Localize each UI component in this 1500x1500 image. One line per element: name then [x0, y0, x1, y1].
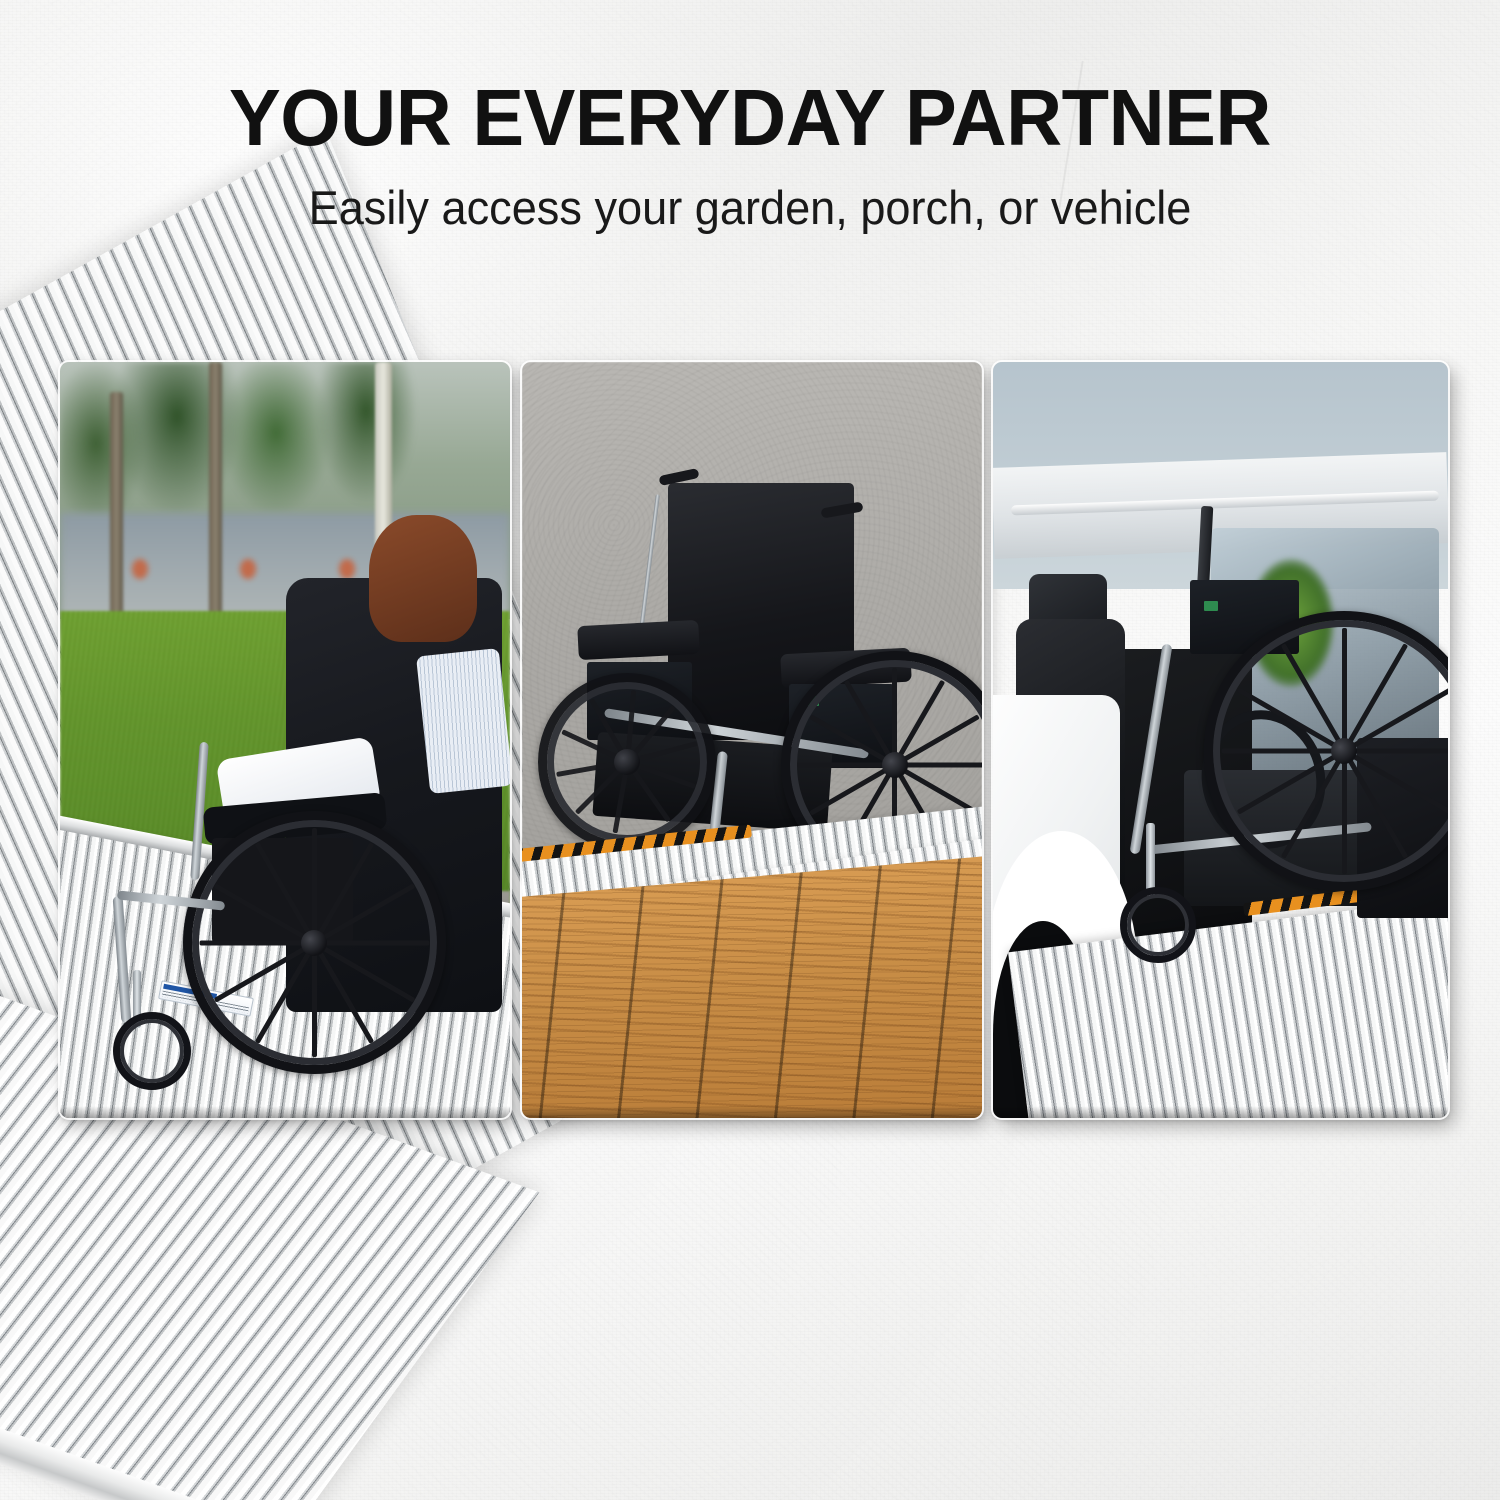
seated-person-hair [369, 515, 477, 642]
wheel-hub [882, 752, 908, 778]
seated-person-shirt [416, 648, 510, 793]
wheelchair-front-caster [113, 1012, 191, 1090]
panel-bottom-shadow [993, 1106, 1448, 1118]
caster-fork [1146, 823, 1155, 897]
wheelchair [96, 589, 510, 1118]
wheelchair-front-caster [1120, 887, 1196, 963]
lantern [240, 559, 256, 579]
wheelchair-frame-tube [112, 896, 131, 1023]
lantern [132, 559, 148, 579]
headline-block: YOUR EVERYDAY PARTNER Easily access your… [0, 78, 1500, 231]
ramp-rounded-lip [0, 1245, 285, 1500]
wooden-deck [522, 853, 982, 1118]
scene-vehicle [993, 362, 1448, 1118]
wheelchair-brake-cable [638, 494, 660, 639]
lantern [339, 559, 355, 579]
wood-grain [522, 853, 982, 1118]
wheelchair-rear-wheel [183, 811, 446, 1074]
photo-panel-garden [60, 362, 510, 1118]
panel-caption: Person in a wheelchair using an aluminiu… [0, 0, 1, 1]
product-poster: YOUR EVERYDAY PARTNER Easily access your… [0, 0, 1500, 1500]
wheel-hub [301, 930, 327, 956]
wheelchair-rear-wheel-left [538, 673, 716, 851]
wheelchair-brand-label [1204, 601, 1218, 611]
page-title: YOUR EVERYDAY PARTNER [23, 78, 1478, 158]
wheelchair-armrest-left [578, 620, 701, 660]
scene-porch [522, 362, 982, 1118]
scene-garden [60, 362, 510, 1118]
photo-panel-vehicle [993, 362, 1448, 1118]
photo-panel-porch [522, 362, 982, 1118]
wheel-hub [614, 749, 640, 775]
panel-bottom-shadow [522, 1106, 982, 1118]
wheelchair [1102, 559, 1448, 1088]
panel-caption: Wheelchair being loaded into a white van… [0, 0, 1, 1]
panel-bottom-shadow [60, 1106, 510, 1118]
page-subtitle: Easily access your garden, porch, or veh… [30, 184, 1470, 231]
panel-caption: Empty wheelchair rolling down an alumini… [0, 0, 1, 1]
